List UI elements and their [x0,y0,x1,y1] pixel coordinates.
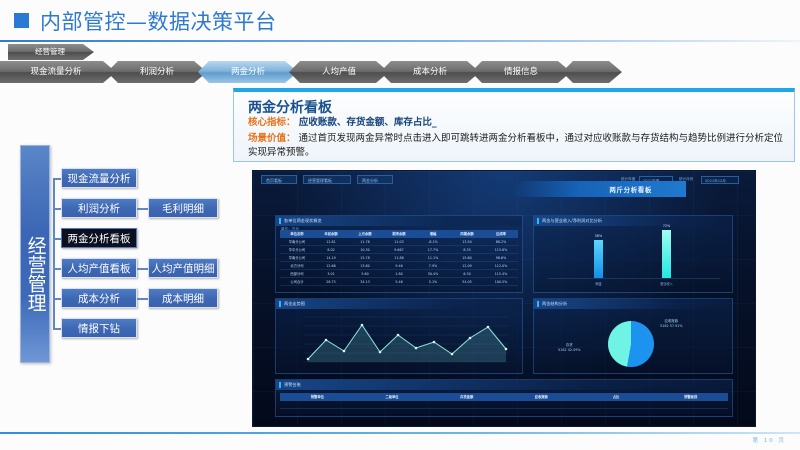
table-cell: 5.60 [348,270,382,278]
page-number: 第 10 页 [753,436,787,444]
dashboard-banner-title: 两斤分析看板 [609,184,652,194]
panel-bar-chart: 两金与营业收入/净利润对比分析 58% 两金 72% 营业收入 [533,215,733,293]
tree-child-percapita-detail[interactable]: 人均产值明细 [148,258,218,278]
table-cell: 13.50 [450,238,484,246]
table-cell: 华中分公司 [280,246,314,254]
table-cell: 9.46 [382,262,416,270]
table-row[interactable] [280,401,728,409]
table-column-header: 年初余额 [314,230,348,238]
table-column-header: 占比 [579,393,654,401]
table-cell: 98.6% [484,254,518,262]
table-cell: 10.30 [348,246,382,254]
pie-label-receivables: 应收账款 5182 57.91% [660,319,683,329]
table-header-row: 预警单位二级单位存货金额应收账款占比预警级别 [280,393,728,401]
table-row[interactable]: 华南分公司14.1915.7811.8811.1%15.6098.6% [280,254,518,262]
tree-node-cashflow[interactable]: 现金流量分析 [61,168,137,188]
panel-accent-bar-icon [279,382,281,388]
pie-label-text: 存货 [566,343,573,347]
tree-link [137,208,148,210]
table-cell: 1.80 [382,270,416,278]
table-cell: 115.8% [484,246,518,254]
table-header-row: 单位名称年初余额上月余额期末余额增幅同期余额达成率 [280,230,518,238]
table-cell: 15.60 [450,254,484,262]
table-cell: 华南分公司 [280,254,314,262]
tree-branch [53,328,61,330]
tree-node-twofunds-board[interactable]: 两金分析看板 [61,228,137,248]
table-cell [579,401,654,409]
bar-axis-x [548,278,720,279]
breadcrumb-item-cashflow[interactable]: 现金流量分析 [0,61,116,83]
breadcrumb-group: 经营管理 [8,44,94,60]
breadcrumb-item-profit[interactable]: 利润分析 [107,61,207,83]
page-title: 内部管控—数据决策平台 [40,6,277,36]
tree-trunk [53,178,55,328]
breadcrumb: 现金流量分析 利润分析 两金分析 人均产值 成本分析 情报信息 [0,61,800,83]
table-column-header: 达成率 [484,230,518,238]
table-cell: 8.02 [314,246,348,254]
breadcrumb-item-percapita[interactable]: 人均产值 [289,61,389,83]
line-chart-svg [276,311,524,373]
tree-branch [53,208,61,210]
tree-child-cost-detail[interactable]: 成本明细 [148,288,218,308]
callout-core-value: 应收账款、存货金额、库存占比_ [299,117,437,128]
bar-category-label: 营业收入 [654,281,679,286]
tree-branch [53,298,61,300]
table-row[interactable]: 北方分司12.6613.609.467.9%12.09112.0% [280,262,518,270]
table-cell: 11.76 [348,238,382,246]
tree-branch [53,268,61,270]
table-cell: 15.78 [348,254,382,262]
dashboard-screenshot: 首页看板 经营管理看板 两金分析 统计年度 2021年度 统计月份 2021年1… [253,171,755,426]
callout-core-line: 核心指标： 应收账款、存货金额、库存占比_ [248,116,437,130]
table-cell: 西部分司 [280,270,314,278]
slide-root: 内部管控—数据决策平台 经营管理 现金流量分析 利润分析 两金分析 人均产值 成… [0,0,800,450]
pie-value-text: 5182 57.91% [660,324,683,328]
bar-category-label: 两金 [586,281,611,286]
panel-accent-bar-icon [537,218,539,224]
breadcrumb-item-twofunds[interactable]: 两金分析 [198,61,298,83]
header-divider [0,40,800,42]
table-cell [429,401,504,409]
table-cell: 9.667 [382,246,416,254]
panel-accent-bar-icon [279,218,281,224]
dashboard-toolbar-button-home[interactable]: 首页看板 [261,175,297,184]
table-cell: 17.7% [416,246,450,254]
panel-header: 各单位两金现状概览 [276,216,522,226]
bar-series-twofunds: 58% 两金 [594,240,603,278]
tree-link [137,298,148,300]
callout-scene-line: 场景价值： 通过首页发现两金异常时点击进入即可跳转进两金分析看板中，通过对应收账… [248,132,788,160]
table-column-header: 存货金额 [429,393,504,401]
panel-header: 两金走势图 [276,299,522,309]
table-cell: 26.75 [314,278,348,286]
table-cell: 5.46 [382,278,416,286]
table-row[interactable]: 公司合计26.7534.135.465.1%54.05100.5% [280,278,518,286]
breadcrumb-tail [562,61,622,83]
table-cell: 12.81 [314,238,348,246]
bottom-table: 预警单位二级单位存货金额应收账款占比预警级别 [280,393,728,409]
panel-title-bar: 两金与营业收入/净利润对比分析 [542,218,602,224]
footer-divider [0,432,800,434]
tree-child-gross-profit-detail[interactable]: 毛利明细 [148,198,218,218]
tree-node-cost[interactable]: 成本分析 [61,288,137,308]
table-row[interactable]: 华中分公司8.0210.309.66717.7%8.35115.8% [280,246,518,254]
bar-series-revenue: 72% 营业收入 [662,230,671,278]
tree-branch [53,178,61,180]
tree-link [137,268,148,270]
table-cell: 3.01 [314,270,348,278]
table-column-header: 单位名称 [280,230,314,238]
callout-scene-value: 通过首页发现两金异常时点击进入即可跳转进两金分析看板中，通过对应收账款与存货结构… [248,133,783,158]
table-cell: 112.0% [484,262,518,270]
table-cell [355,401,430,409]
panel-title-pie: 两金结构分析 [542,301,567,307]
table-cell: 12.66 [314,262,348,270]
table-cell: 54.05 [450,278,484,286]
breadcrumb-item-cost[interactable]: 成本分析 [380,61,480,83]
table-cell: 12.09 [450,262,484,270]
table-cell: 115.4% [484,270,518,278]
callout-panel: 两金分析看板 核心指标： 应收账款、存货金额、库存占比_ 场景价值： 通过首页发… [233,88,795,162]
table-column-header: 期末余额 [382,230,416,238]
panel-overview-table: 各单位两金现状概览 单位：万元 单位名称年初余额上月余额期末余额增幅同期余额达成… [275,215,523,293]
panel-title-bottom: 预警台账 [284,382,301,388]
panel-accent-bar-icon [279,301,281,307]
table-column-header: 增幅 [416,230,450,238]
tree-branch [53,238,61,240]
table-row[interactable]: 华南分公司12.8111.7611.03-8.1%13.5088.2% [280,238,518,246]
bar-value-label: 72% [658,224,675,228]
panel-header: 两金结构分析 [534,299,732,309]
table-cell: 11.03 [382,238,416,246]
tree-node-profit[interactable]: 利润分析 [61,198,137,218]
dashboard-toolbar-button-ops[interactable]: 经营管理看板 [303,175,351,184]
table-cell: -8.1% [416,238,450,246]
panel-line-chart: 两金走势图 [275,298,523,374]
panel-header: 预警台账 [276,380,732,390]
table-column-header: 应收账款 [504,393,579,401]
pie-value-text: 5182 42.09% [558,348,581,352]
pie-label-text: 应收账款 [665,319,679,323]
table-cell [504,401,579,409]
table-cell: 北方分司 [280,262,314,270]
breadcrumb-item-intel[interactable]: 情报信息 [471,61,571,83]
table-cell: 公司合计 [280,278,314,286]
table-cell: 11.88 [382,254,416,262]
table-cell: 7.9% [416,262,450,270]
dashboard-toolbar-button-twofunds[interactable]: 两金分析 [357,175,393,184]
table-column-header: 上月余额 [348,230,382,238]
tree-node-intel-drill[interactable]: 情报下钻 [61,318,137,338]
tree-root-label: 经营管理 [20,145,50,363]
dashboard-filter-month[interactable]: 2021年12月 [701,176,739,184]
table-cell: 14.19 [314,254,348,262]
table-cell: 100.5% [484,278,518,286]
table-column-header: 预警级别 [653,393,728,401]
table-cell [280,401,355,409]
table-cell: 8.35 [450,246,484,254]
callout-title: 两金分析看板 [248,97,332,117]
breadcrumb-group-label[interactable]: 经营管理 [8,44,94,60]
bar-value-label: 58% [590,234,607,238]
panel-header: 两金与营业收入/净利润对比分析 [534,216,732,226]
dashboard-banner: 两斤分析看板 [506,181,686,197]
panel-bottom-table: 预警台账 预警单位二级单位存货金额应收账款占比预警级别 [275,379,733,417]
table-cell: 13.60 [348,262,382,270]
table-cell: 34.13 [348,278,382,286]
table-cell: 5.1% [416,278,450,286]
table-cell: 50.4% [416,270,450,278]
panel-pie-chart: 两金结构分析 应收账款 5182 57.91% 存货 5182 42.09% [533,298,733,374]
table-column-header: 二级单位 [355,393,430,401]
panel-title-overview: 各单位两金现状概览 [284,218,322,224]
table-row[interactable]: 西部分司3.015.601.8050.4%6.30115.4% [280,270,518,278]
panel-title-line: 两金走势图 [284,301,305,307]
pie-label-inventory: 存货 5182 42.09% [558,343,581,353]
navigation-tree: 经营管理 现金流量分析 利润分析 两金分析看板 人均产值看板 成本分析 情报下钻… [0,130,240,380]
pie-chart [608,321,654,367]
table-column-header: 同期余额 [450,230,484,238]
table-cell: 11.1% [416,254,450,262]
square-logo-icon [14,13,29,28]
slide-header: 内部管控—数据决策平台 [0,0,800,40]
tree-node-percapita-board[interactable]: 人均产值看板 [61,258,137,278]
table-column-header: 预警单位 [280,393,355,401]
panel-accent-bar-icon [537,301,539,307]
callout-scene-key: 场景价值： [248,133,296,144]
table-cell: 华南分公司 [280,238,314,246]
overview-table: 单位名称年初余额上月余额期末余额增幅同期余额达成率华南分公司12.8111.76… [280,230,518,286]
table-cell: 6.30 [450,270,484,278]
table-cell: 88.2% [484,238,518,246]
table-cell [653,401,728,409]
callout-core-key: 核心指标： [248,117,296,128]
